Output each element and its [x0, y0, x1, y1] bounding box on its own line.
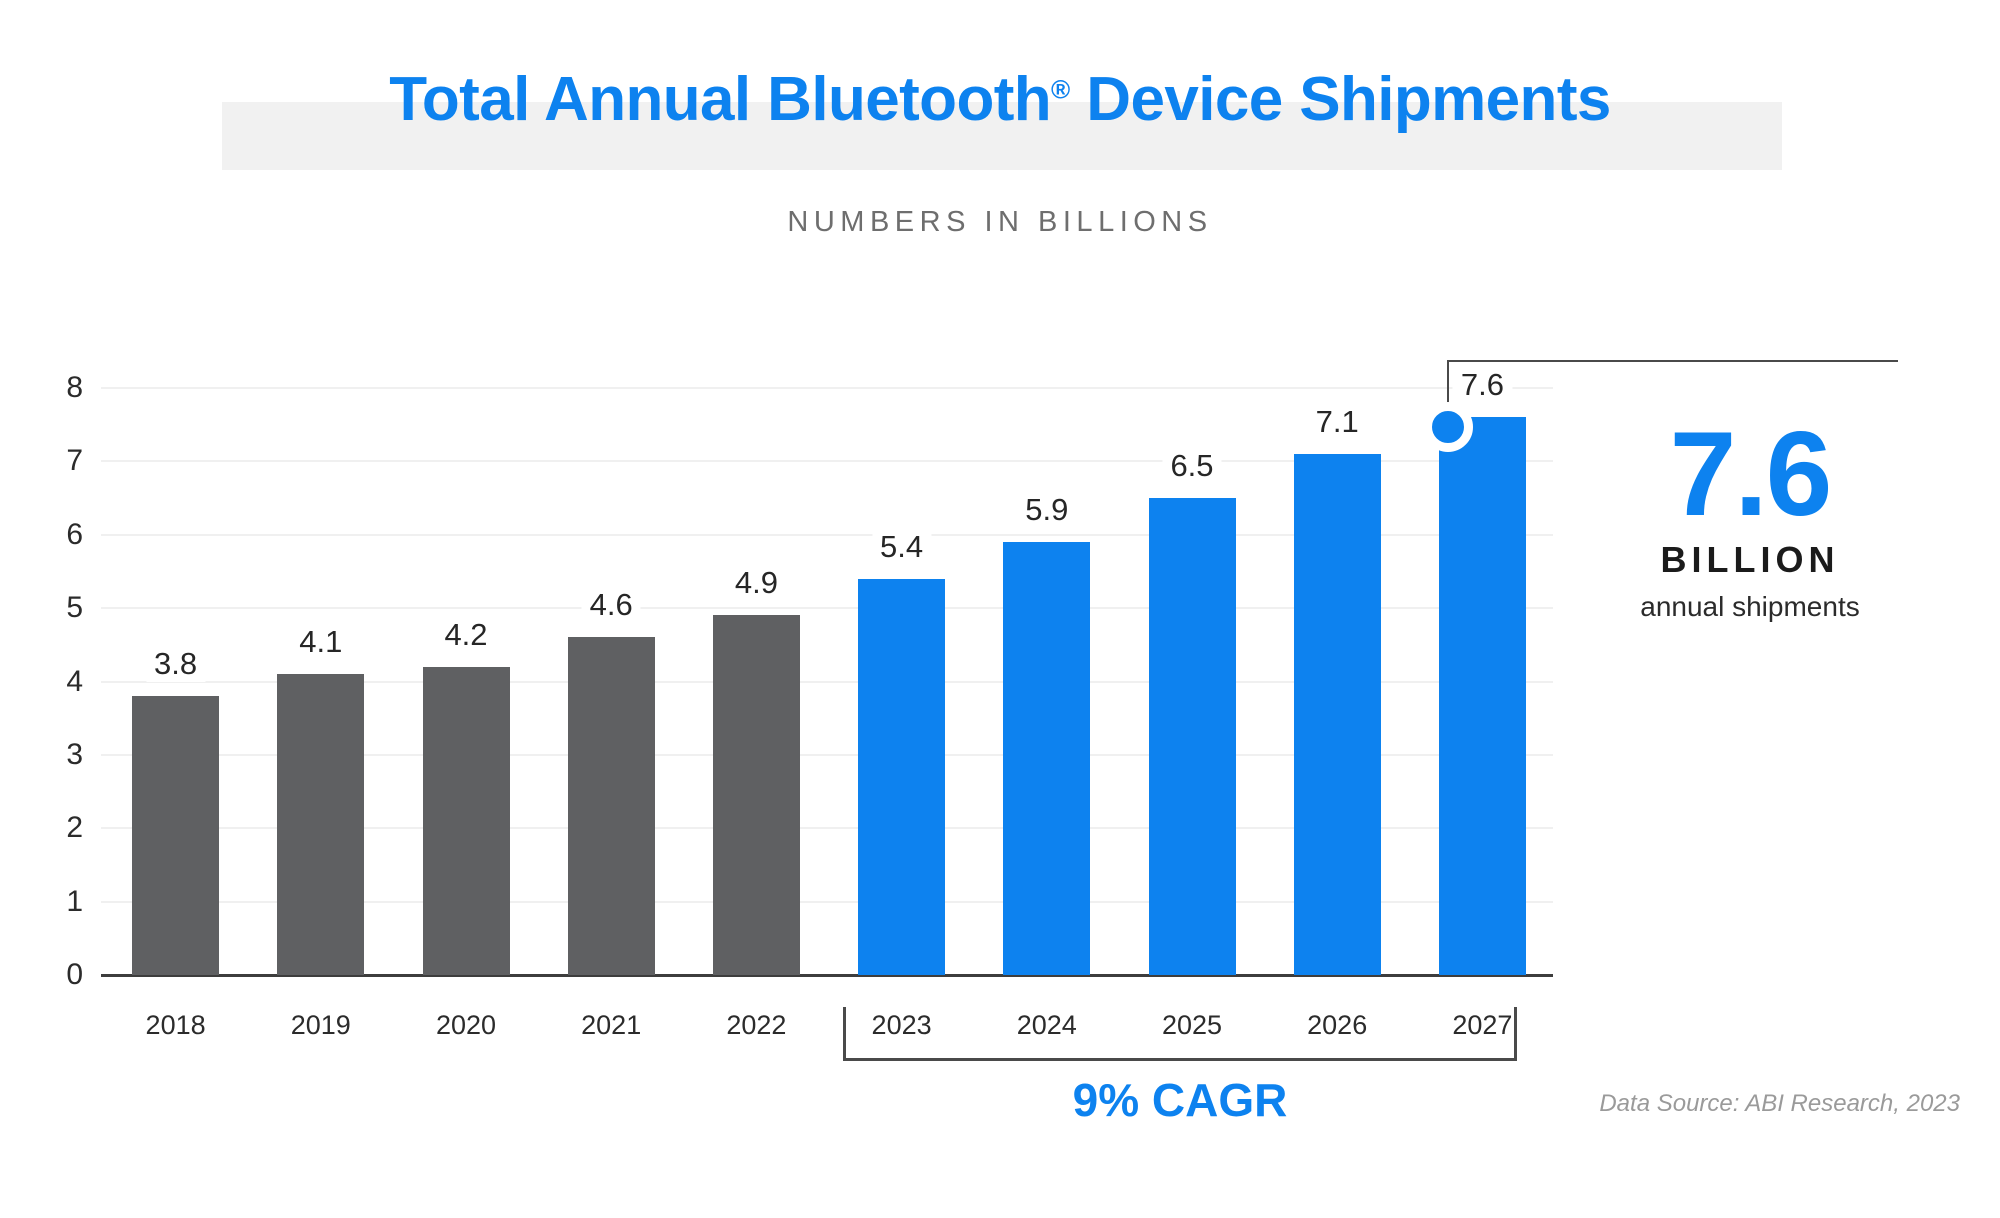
- bar-rect: [1294, 454, 1381, 975]
- bar-value-label: 3.8: [146, 646, 205, 682]
- page-subtitle: NUMBERS IN BILLIONS: [0, 206, 2000, 239]
- data-point-dot-icon: [1423, 402, 1473, 452]
- bar-rect: [1439, 417, 1526, 975]
- bar-rect: [568, 637, 655, 975]
- bar-rect: [1149, 498, 1236, 975]
- bar-2027: 7.62027: [1439, 417, 1526, 975]
- bar-rect: [277, 674, 364, 975]
- x-axis-tick-label-2019: 2019: [291, 1010, 351, 1041]
- bar-value-label: 5.4: [872, 529, 931, 565]
- source-note: Data Source: ABI Research, 2023: [1599, 1090, 1960, 1118]
- y-axis-tick-label: 6: [43, 518, 83, 552]
- y-axis-tick-label: 2: [43, 811, 83, 845]
- x-axis-tick-label-2018: 2018: [146, 1010, 206, 1041]
- callout-unit: BILLION: [1600, 539, 1900, 581]
- y-axis-tick-label: 8: [43, 371, 83, 405]
- header: Total Annual Bluetooth® Device Shipments: [0, 66, 2000, 176]
- x-axis-tick-label-2022: 2022: [726, 1010, 786, 1041]
- bar-2020: 4.22020: [423, 667, 510, 975]
- bar-2026: 7.12026: [1294, 454, 1381, 975]
- y-axis-tick-label: 5: [43, 591, 83, 625]
- bar-value-label: 4.2: [436, 617, 495, 653]
- bar-2023: 5.42023: [858, 579, 945, 975]
- gridline: [101, 387, 1553, 389]
- bar-value-label: 7.6: [1453, 367, 1512, 403]
- bar-value-label: 6.5: [1162, 448, 1221, 484]
- page-title: Total Annual Bluetooth® Device Shipments: [0, 66, 2000, 134]
- page-title-tail: Device Shipments: [1070, 65, 1611, 134]
- callout-highlight: 7.6 BILLION annual shipments: [1600, 418, 1900, 623]
- y-axis-tick-label: 7: [43, 444, 83, 478]
- bar-rect: [423, 667, 510, 975]
- bar-2021: 4.62021: [568, 637, 655, 975]
- registered-trademark-icon: ®: [1051, 74, 1070, 104]
- bar-rect: [858, 579, 945, 975]
- bar-2024: 5.92024: [1003, 542, 1090, 975]
- y-axis-tick-label: 1: [43, 885, 83, 919]
- x-axis-tick-label-2021: 2021: [581, 1010, 641, 1041]
- callout-leader-line-horizontal: [1447, 360, 1898, 362]
- y-axis-tick-label: 4: [43, 665, 83, 699]
- y-axis-tick-label: 3: [43, 738, 83, 772]
- bar-value-label: 7.1: [1308, 404, 1367, 440]
- bar-rect: [713, 615, 800, 975]
- bar-value-label: 5.9: [1017, 492, 1076, 528]
- bar-value-label: 4.6: [582, 587, 641, 623]
- bar-rect: [132, 696, 219, 975]
- bar-2025: 6.52025: [1149, 498, 1236, 975]
- chart-plot-area: 0123456783.820184.120194.220204.620214.9…: [101, 388, 1553, 975]
- page-title-main: Total Annual Bluetooth: [389, 65, 1051, 134]
- bar-2019: 4.12019: [277, 674, 364, 975]
- bar-2022: 4.92022: [713, 615, 800, 975]
- bar-2018: 3.82018: [132, 696, 219, 975]
- bar-value-label: 4.1: [291, 624, 350, 660]
- bar-rect: [1003, 542, 1090, 975]
- y-axis-tick-label: 0: [43, 958, 83, 992]
- callout-caption: annual shipments: [1600, 591, 1900, 623]
- cagr-label: 9% CAGR: [843, 1073, 1517, 1127]
- x-axis-tick-label-2020: 2020: [436, 1010, 496, 1041]
- bar-value-label: 4.9: [727, 565, 786, 601]
- cagr-bracket-icon: [843, 1007, 1517, 1061]
- callout-value: 7.6: [1600, 418, 1900, 531]
